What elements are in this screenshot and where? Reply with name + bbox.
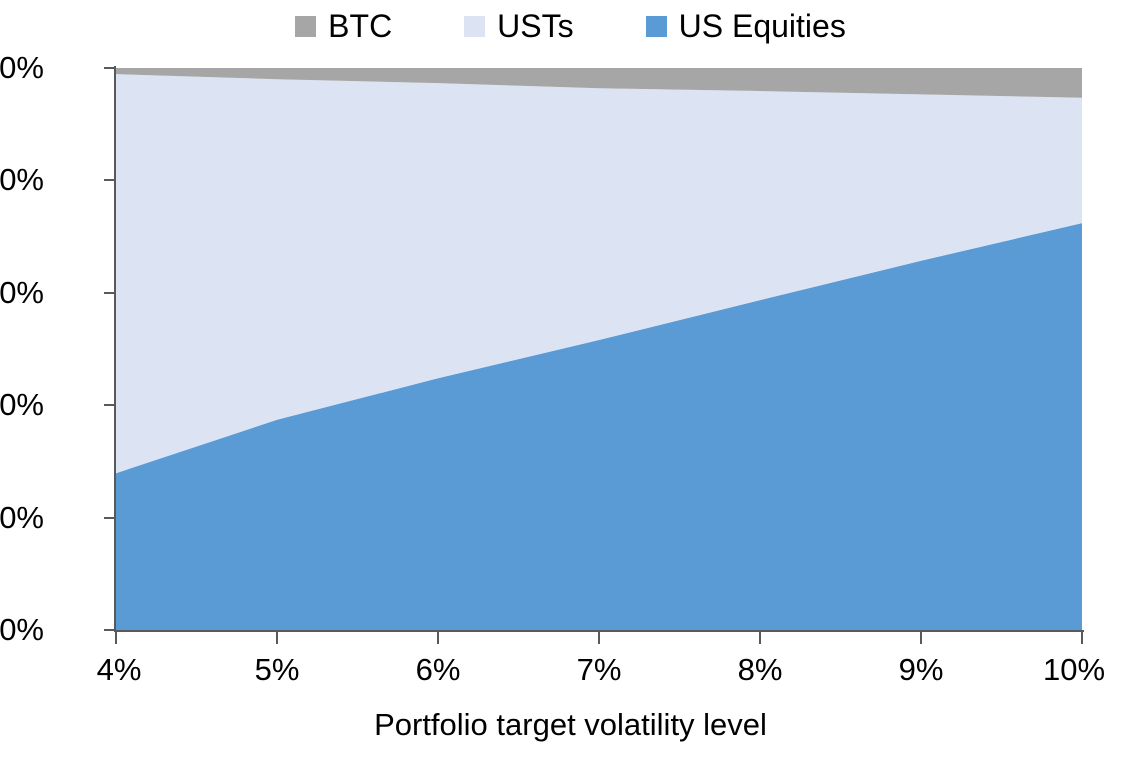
x-tick-label-10: 10%: [1043, 654, 1105, 685]
legend-swatch-us-equities: [646, 16, 667, 37]
legend-swatch-usts: [464, 16, 485, 37]
legend-item-us-equities: US Equities: [646, 10, 846, 42]
y-tick-mark-20: [104, 517, 115, 519]
x-tick-label-6: 6%: [416, 654, 461, 685]
y-tick-label-60: 60%: [0, 277, 44, 308]
legend-label-usts: USTs: [497, 10, 573, 42]
y-tick-mark-40: [104, 404, 115, 406]
plot-area: [116, 68, 1082, 630]
legend-label-btc: BTC: [328, 10, 392, 42]
chart-legend: BTC USTs US Equities: [0, 4, 1141, 48]
y-tick-label-100: 100%: [0, 52, 44, 83]
y-tick-label-20: 20%: [0, 502, 44, 533]
x-tick-label-4: 4%: [97, 654, 142, 685]
y-axis-line: [114, 66, 116, 632]
x-tick-mark-8: [759, 632, 761, 644]
area-series-svg: [116, 68, 1082, 630]
x-tick-label-7: 7%: [577, 654, 622, 685]
x-tick-mark-9: [920, 632, 922, 644]
y-tick-label-40: 40%: [0, 389, 44, 420]
x-tick-mark-10: [1081, 632, 1083, 644]
stacked-area-chart: BTC USTs US Equities 100% 80% 60% 40% 20…: [0, 0, 1141, 763]
y-tick-mark-80: [104, 179, 115, 181]
x-tick-label-5: 5%: [255, 654, 300, 685]
x-axis-title: Portfolio target volatility level: [0, 708, 1141, 742]
legend-item-usts: USTs: [464, 10, 573, 42]
y-tick-mark-100: [104, 67, 115, 69]
x-tick-mark-7: [598, 632, 600, 644]
x-tick-mark-6: [437, 632, 439, 644]
x-tick-label-9: 9%: [899, 654, 944, 685]
legend-swatch-btc: [295, 16, 316, 37]
y-tick-label-80: 80%: [0, 164, 44, 195]
y-tick-mark-60: [104, 292, 115, 294]
x-tick-mark-5: [276, 632, 278, 644]
x-tick-label-8: 8%: [738, 654, 783, 685]
legend-item-btc: BTC: [295, 10, 392, 42]
legend-label-us-equities: US Equities: [679, 10, 846, 42]
x-tick-mark-4: [115, 632, 117, 644]
y-tick-label-0: 0%: [0, 614, 44, 645]
